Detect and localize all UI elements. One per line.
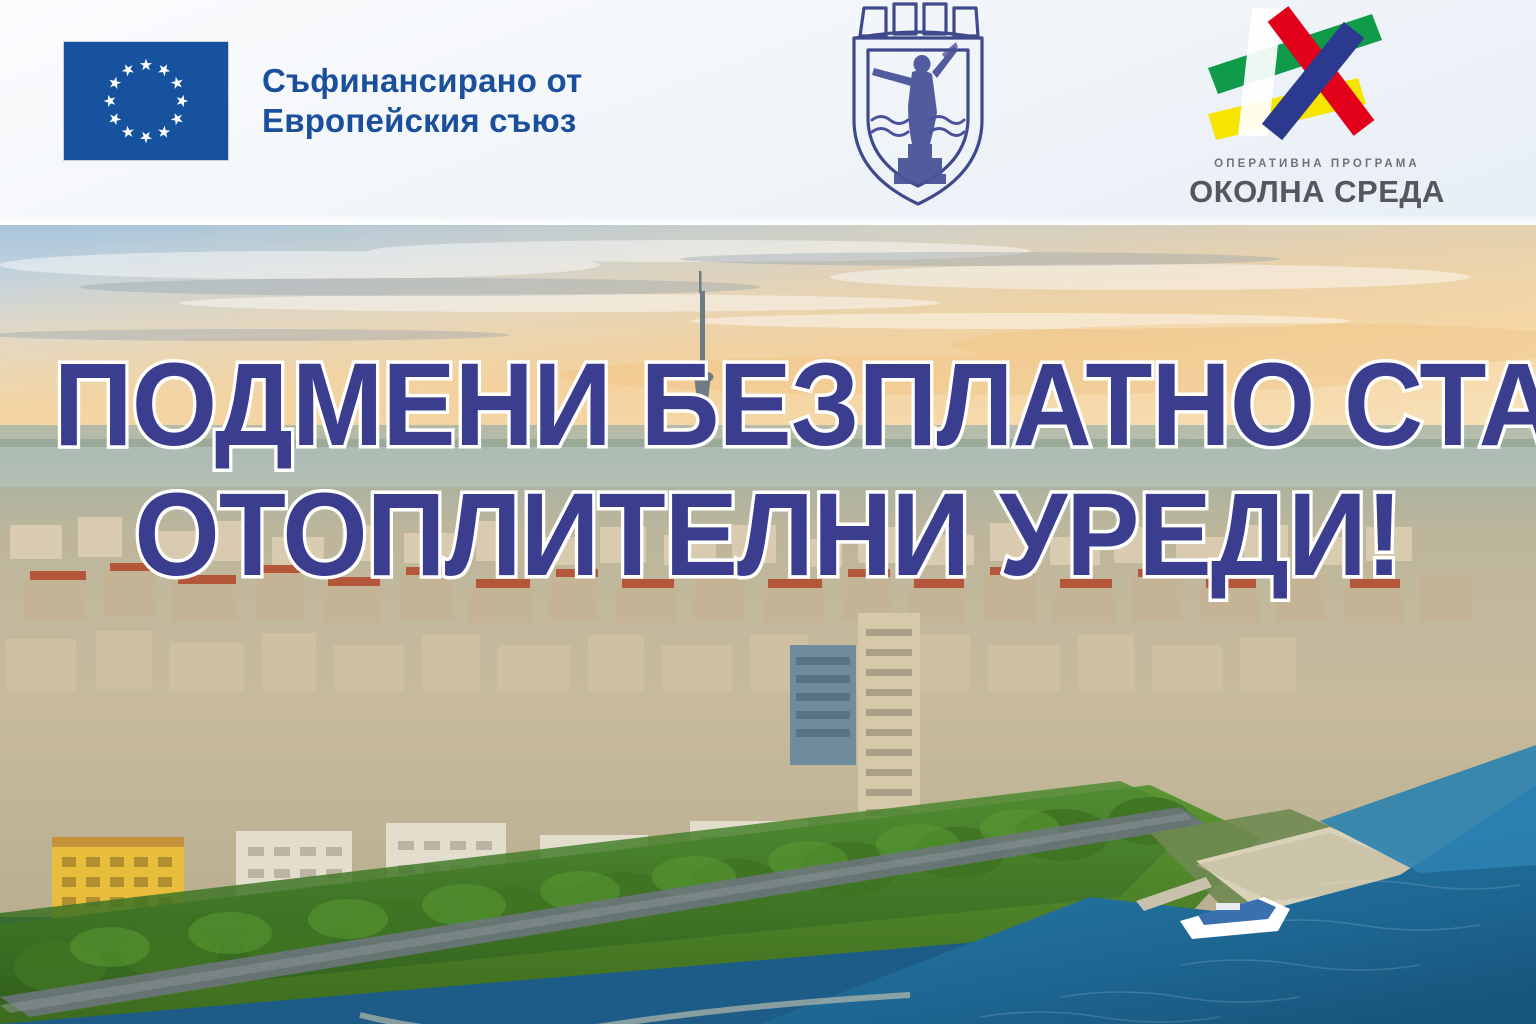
aerial-cityscape-photo [0, 225, 1536, 1024]
eu-cofunding-block: Съфинансирано от Европейския съюз [64, 42, 582, 160]
logo-header-band: Съфинансирано от Европейския съюз [0, 0, 1536, 225]
eu-stars-circle-icon [64, 42, 228, 160]
opos-title: ОКОЛНА СРЕДА [1186, 174, 1448, 210]
ruse-coat-of-arms-icon [838, 2, 998, 210]
operational-programme-environment-logo: ОПЕРАТИВНА ПРОГРАМА ОКОЛНА СРЕДА [1186, 6, 1448, 206]
eu-cofunding-caption: Съфинансирано от Европейския съюз [262, 61, 582, 142]
european-union-flag-icon [64, 42, 228, 160]
opos-stripes-icon [1186, 6, 1448, 158]
promo-banner: Съфинансирано от Европейския съюз [0, 0, 1536, 1024]
opos-subtitle: ОПЕРАТИВНА ПРОГРАМА [1186, 158, 1448, 170]
